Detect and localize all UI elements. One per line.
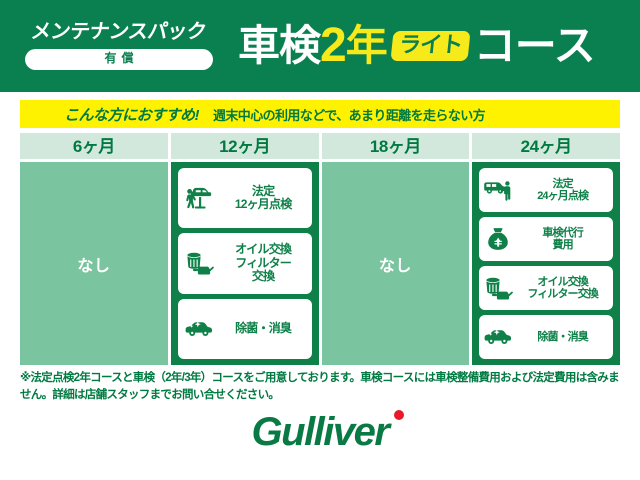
course-title-block: 車検2年ライトコース: [238, 22, 626, 70]
money-bag-yen-icon: [483, 226, 513, 252]
car-sanitize-icon: [182, 319, 216, 339]
column-24-months: 24ヶ月: [472, 133, 620, 365]
course-number-label: 2: [320, 22, 346, 70]
service-item-label: 除菌・消臭: [219, 322, 308, 335]
course-main-label: 車検: [238, 25, 320, 67]
oil-filter-change-icon: [483, 275, 513, 301]
column-header-6-months: 6ヶ月: [20, 133, 168, 159]
column-body-12-months: 法定 12ヶ月点検 オイル交換 フィ: [171, 162, 319, 365]
none-label-18-months: なし: [379, 252, 412, 276]
column-body-18-months: なし: [322, 162, 470, 365]
service-item-label: 除菌・消臭: [516, 331, 609, 343]
header-banner: メンテナンスパック 有償 車検2年ライトコース: [0, 0, 640, 92]
column-body-6-months: なし: [20, 162, 168, 365]
light-badge: ライト: [390, 31, 470, 61]
column-12-months: 12ヶ月 法定 12ヶ月点検: [171, 133, 319, 365]
recommendation-detail: 週末中心の利用などで、あまり距離を走らない方: [213, 105, 485, 124]
column-header-12-months: 12ヶ月: [171, 133, 319, 159]
column-header-24-months: 24ヶ月: [472, 133, 620, 159]
course-years-label: 年: [346, 25, 387, 67]
column-18-months: 18ヶ月 なし: [322, 133, 470, 365]
service-item: オイル交換 フィルター交換: [479, 266, 613, 310]
service-item: 法定 12ヶ月点検: [178, 168, 312, 228]
recommendation-lead: こんな方におすすめ!: [64, 104, 199, 125]
recommendation-strip: こんな方におすすめ! 週末中心の利用などで、あまり距離を走らない方: [20, 100, 620, 128]
service-item: 法定 24ヶ月点検: [479, 168, 613, 212]
service-item-label: オイル交換 フィルター 交換: [219, 243, 308, 283]
service-item-label: 車検代行 費用: [516, 227, 609, 252]
car-lift-inspection-icon: [182, 185, 216, 211]
column-body-24-months: 法定 24ヶ月点検 車検代行 費用: [472, 162, 620, 365]
column-header-18-months: 18ヶ月: [322, 133, 470, 159]
column-6-months: 6ヶ月 なし: [20, 133, 168, 365]
service-item: 除菌・消臭: [178, 299, 312, 359]
service-item: オイル交換 フィルター 交換: [178, 233, 312, 293]
car-sanitize-icon: [483, 327, 513, 347]
gulliver-logo-dot-icon: [394, 410, 404, 420]
service-item-label: オイル交換 フィルター交換: [516, 276, 609, 301]
pack-title: メンテナンスパック: [30, 22, 208, 42]
brand-logo-wrap: Gulliver: [0, 412, 640, 452]
none-label-6-months: なし: [77, 252, 110, 276]
gulliver-logo: Gulliver: [252, 412, 389, 452]
gulliver-logo-text: Gulliver: [252, 410, 389, 454]
coverage-table: 6ヶ月 なし 12ヶ月: [20, 133, 620, 365]
course-tail-label: コース: [474, 25, 595, 67]
paid-badge: 有償: [25, 49, 213, 69]
footnote-text: ※法定点検2年コースと車検（2年/3年）コースをご用意しております。車検コースに…: [20, 370, 624, 403]
oil-filter-change-icon: [182, 250, 216, 276]
service-item-label: 法定 24ヶ月点検: [516, 178, 609, 203]
service-item: 除菌・消臭: [479, 315, 613, 359]
car-inspection-staff-icon: [483, 179, 513, 201]
maintenance-pack-advertisement: メンテナンスパック 有償 車検2年ライトコース こんな方におすすめ! 週末中心の…: [0, 0, 640, 480]
service-item-label: 法定 12ヶ月点検: [219, 185, 308, 212]
service-item: 車検代行 費用: [479, 217, 613, 261]
maintenance-pack-block: メンテナンスパック 有償: [14, 22, 224, 69]
